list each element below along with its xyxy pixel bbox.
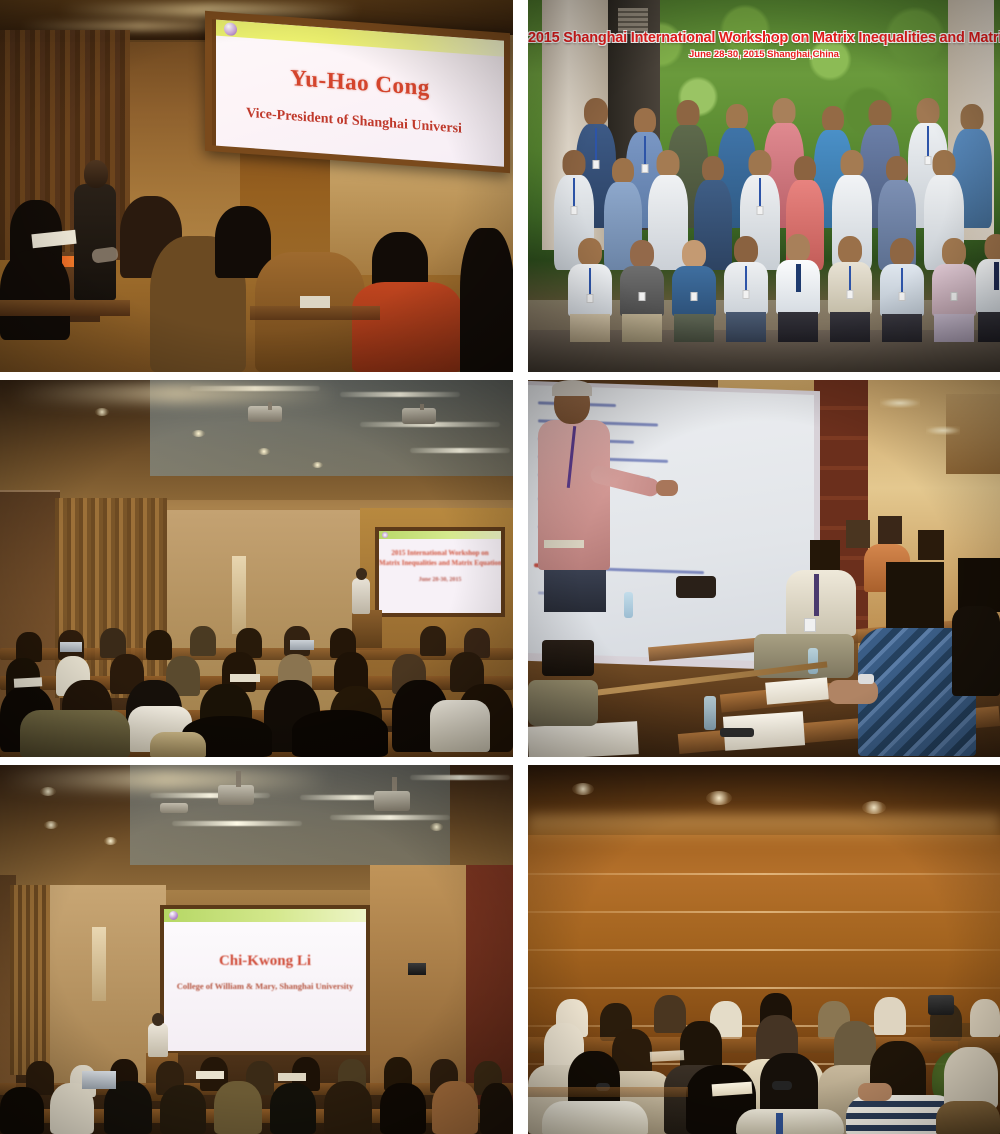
audience-head: [680, 1021, 722, 1071]
audience-shirt: [736, 1109, 844, 1134]
desk: [250, 306, 380, 320]
slide-line-2: Matrix Inequalities and Matrix Equations: [379, 559, 501, 567]
speaker-head: [84, 160, 108, 188]
cove-light: [0, 769, 330, 789]
photo-opening-ceremony-podium: Yu-Hao Cong Vice-President of Shanghai U…: [0, 0, 513, 372]
audience-person: [432, 1081, 478, 1134]
paper: [528, 721, 639, 757]
ceiling-light: [330, 815, 450, 820]
speaker-body: [148, 1023, 168, 1057]
desk-row: [528, 1087, 688, 1097]
audience-person: [380, 1083, 426, 1134]
participant-seated: [976, 234, 1000, 342]
speaker-body: [74, 184, 116, 300]
audience-person: [20, 710, 130, 757]
audience-shirt: [936, 1101, 1000, 1134]
projection-screen: Chi-Kwong Li College of William & Mary, …: [164, 909, 366, 1051]
slide-line-1: 2015 International Workshop on: [379, 549, 501, 557]
downlight: [104, 837, 117, 845]
downlight: [572, 783, 594, 795]
projection-screen: Yu-Hao Cong Vice-President of Shanghai U…: [212, 19, 504, 166]
water-bottle: [808, 648, 818, 674]
banner-title: 2015 Shanghai International Workshop on …: [528, 30, 1000, 46]
paper: [650, 1050, 684, 1062]
audience-head: [918, 530, 944, 560]
photo-lecture-hall-wide: 2015 International Workshop on Matrix In…: [0, 380, 513, 757]
audience-arm: [528, 680, 598, 726]
slide-line-3: June 28-30, 2015: [379, 577, 501, 583]
audience-head: [654, 995, 686, 1033]
photo-audience-wood-panelled-room: [528, 765, 1000, 1134]
projector-mount: [420, 404, 424, 410]
photo-chi-kwong-li-talk: Chi-Kwong Li College of William & Mary, …: [0, 765, 513, 1134]
lanyard: [814, 574, 819, 616]
audience-person: [460, 228, 513, 372]
speaker-head: [152, 1013, 164, 1026]
downlight: [880, 398, 920, 408]
slide-top-bar: [379, 531, 501, 539]
projection-screen: 2015 International Workshop on Matrix In…: [379, 531, 501, 613]
slide-subtitle: Vice-President of Shanghai Universi: [212, 103, 498, 140]
downlight: [95, 408, 109, 416]
projector-mount: [392, 777, 397, 791]
eyeglasses-icon: [772, 1081, 792, 1090]
audience-shirt: [542, 1101, 648, 1134]
university-logo-icon: [169, 911, 178, 920]
desk: [0, 300, 130, 316]
downlight: [430, 823, 443, 831]
downlight: [706, 791, 732, 805]
participant-seated: [828, 236, 872, 342]
slide-top-bar: [164, 909, 366, 922]
audience-head: [190, 626, 216, 656]
audience-shirt: [430, 700, 490, 752]
banner: 2015 Shanghai International Workshop on …: [528, 30, 1000, 64]
ceiling-light: [172, 821, 302, 826]
bag: [676, 576, 716, 598]
audience-hand: [858, 1083, 892, 1101]
ceiling-light: [340, 392, 460, 397]
wall-niche: [232, 556, 246, 634]
audience-person: [50, 1083, 94, 1134]
audience-person: [352, 282, 462, 372]
wall-speaker-icon: [408, 963, 426, 975]
projector-mount: [268, 402, 272, 410]
participant-seated: [724, 236, 768, 342]
laptop: [82, 1071, 116, 1089]
ceiling-light: [410, 448, 510, 453]
slide-title: Yu-Hao Cong: [216, 60, 504, 107]
paper: [14, 677, 42, 687]
ceiling-projector: [374, 791, 410, 811]
audience-person: [480, 1083, 513, 1134]
downlight: [44, 821, 58, 829]
lanyard: [776, 1113, 783, 1134]
audience-head: [874, 997, 906, 1035]
downlight: [312, 462, 323, 468]
banner-subtitle: June 28-30, 2015 Shanghai,China: [528, 49, 1000, 60]
slide-subtitle: College of William & Mary, Shanghai Univ…: [164, 981, 366, 991]
audience-head: [846, 520, 870, 548]
audience-head: [420, 626, 446, 656]
ceiling-light: [410, 775, 510, 780]
photo-group-photo: 2015 Shanghai International Workshop on …: [528, 0, 1000, 372]
wall-niche: [92, 927, 106, 1001]
audience-person: [0, 1087, 44, 1134]
audience-head: [958, 558, 1000, 612]
presenter-hand: [656, 480, 678, 496]
projector-mount: [236, 771, 241, 787]
university-logo-icon: [382, 532, 388, 538]
wristwatch: [858, 674, 874, 684]
audience-person: [270, 1083, 316, 1134]
ceiling-projector: [248, 406, 282, 422]
laptop: [60, 642, 82, 652]
participant-seated: [880, 238, 924, 342]
participant-seated: [672, 240, 716, 342]
university-logo-icon: [224, 22, 237, 36]
camera: [928, 995, 954, 1015]
participant-seated: [932, 238, 976, 342]
downlight: [192, 430, 205, 437]
water-bottle: [704, 696, 716, 730]
paper: [300, 296, 330, 308]
speaker-head: [356, 568, 367, 580]
podium: [352, 610, 382, 650]
badge: [804, 618, 816, 632]
participant-seated: [568, 238, 612, 342]
audience-person: [214, 1081, 262, 1134]
ceiling-projector: [402, 408, 436, 424]
slide-title: Chi-Kwong Li: [164, 953, 366, 970]
participant-seated: [620, 240, 664, 342]
paper: [544, 540, 584, 548]
downlight: [862, 801, 886, 814]
paper: [278, 1073, 306, 1081]
downlight: [926, 426, 960, 435]
phone: [720, 728, 754, 737]
downlight: [40, 787, 56, 796]
photo-speaker-handwritten-slides: [528, 380, 1000, 757]
ceiling-vent: [160, 803, 188, 813]
audience-head: [944, 1047, 998, 1109]
downlight: [258, 448, 270, 455]
audience-person: [952, 606, 1000, 696]
audience-shirt: [786, 570, 856, 636]
cove-light: [10, 384, 340, 402]
speaker-body: [352, 578, 370, 614]
photo-collage: Yu-Hao Cong Vice-President of Shanghai U…: [0, 0, 1000, 1134]
audience-person: [292, 710, 388, 757]
ceiling-cove-glow: [528, 815, 1000, 845]
audience-head: [146, 630, 172, 660]
audience-person: [324, 1081, 372, 1134]
backpack: [150, 732, 206, 757]
audience-head: [886, 562, 944, 632]
participant-seated: [776, 234, 820, 342]
audience-head: [0, 250, 70, 340]
ceiling-projector: [218, 785, 254, 805]
audience-head: [878, 516, 902, 544]
laptop: [542, 640, 594, 676]
water-bottle: [624, 592, 633, 618]
laptop: [290, 640, 314, 650]
audience-person: [160, 1085, 206, 1134]
paper: [230, 674, 260, 682]
audience-head: [970, 999, 1000, 1037]
presenter-hair: [552, 380, 592, 396]
paper: [196, 1071, 224, 1079]
curtain: [10, 885, 50, 1075]
